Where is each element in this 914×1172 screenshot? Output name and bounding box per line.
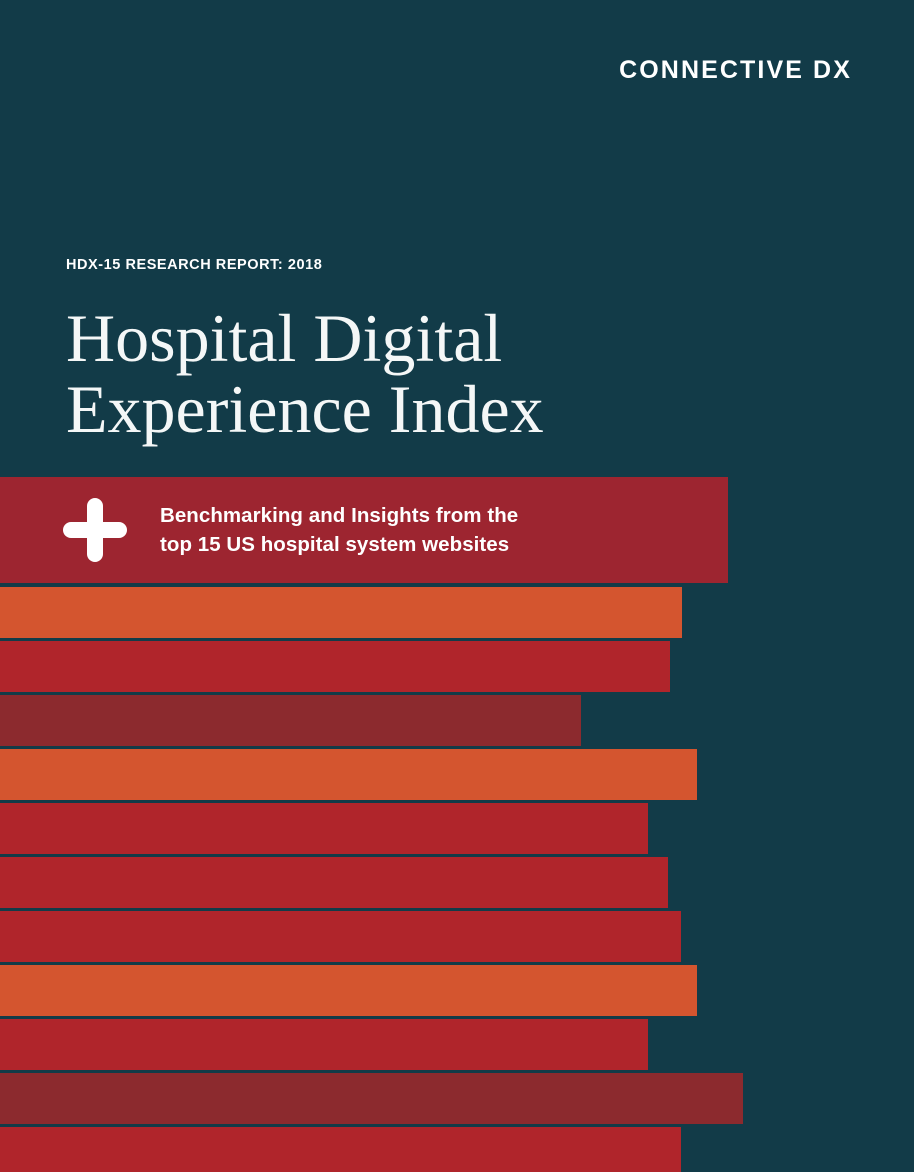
chart-bar — [0, 965, 697, 1016]
chart-bar — [0, 1127, 681, 1172]
page-title-line-1: Hospital Digital — [66, 303, 766, 374]
cover-subtitle: Benchmarking and Insights from the top 1… — [160, 501, 518, 559]
chart-bar — [0, 911, 681, 962]
chart-bar — [0, 1073, 743, 1124]
chart-bar — [0, 587, 682, 638]
cover-title-block: HDX-15 RESEARCH REPORT: 2018 Hospital Di… — [66, 258, 766, 445]
report-cover: CONNECTIVE DX HDX-15 RESEARCH REPORT: 20… — [0, 0, 914, 1172]
chart-bar — [0, 641, 670, 692]
brand-logo: CONNECTIVE DX — [619, 58, 852, 83]
plus-icon — [63, 498, 127, 562]
page-title: Hospital Digital Experience Index — [66, 303, 766, 446]
report-eyebrow: HDX-15 RESEARCH REPORT: 2018 — [66, 258, 766, 273]
subtitle-banner: Benchmarking and Insights from the top 1… — [0, 477, 728, 583]
chart-bar — [0, 803, 648, 854]
cover-subtitle-line-1: Benchmarking and Insights from the — [160, 501, 518, 530]
plus-icon-vertical — [87, 498, 103, 562]
chart-bar — [0, 857, 668, 908]
chart-bar — [0, 695, 581, 746]
chart-bar — [0, 1019, 648, 1070]
page-title-line-2: Experience Index — [66, 374, 766, 445]
cover-subtitle-line-2: top 15 US hospital system websites — [160, 530, 518, 559]
chart-bar — [0, 749, 697, 800]
